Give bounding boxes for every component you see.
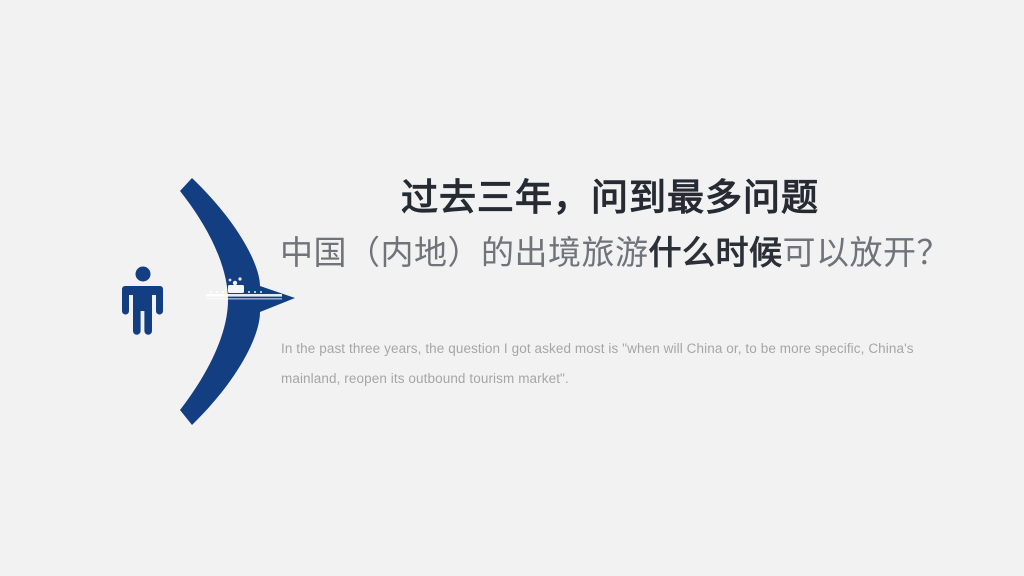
subtitle-accent-text: 什么时候 [649,236,783,272]
english-caption: In the past three years, the question I … [281,334,921,394]
page-subtitle: 中国（内地）的出境旅游什么时候可以放开？ [280,232,940,276]
page-title: 过去三年，问到最多问题 [280,176,940,222]
subtitle-text-before: 中国（内地）的出境旅游 [280,236,649,272]
crescent-shape [180,178,295,425]
slide-canvas: 过去三年，问到最多问题 中国（内地）的出境旅游什么时候可以放开？ In the … [0,0,1024,576]
person-icon [122,267,163,335]
subtitle-text-after: 可以放开？ [783,236,951,272]
